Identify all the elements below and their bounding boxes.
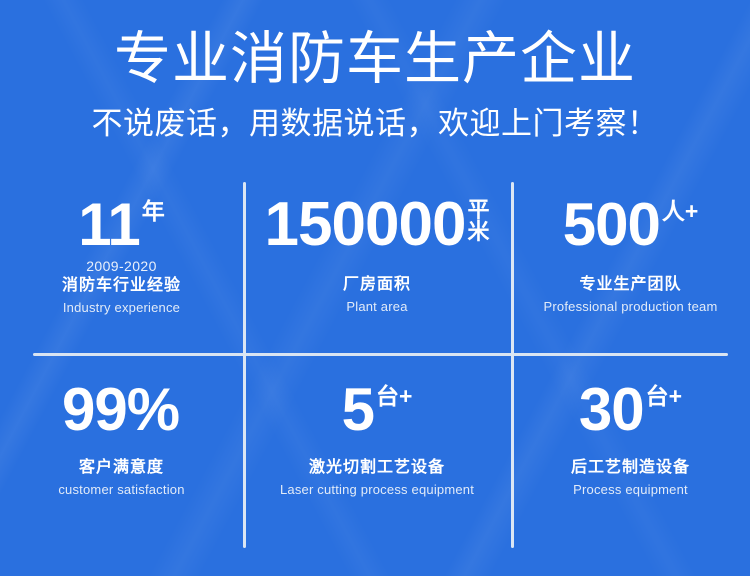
- stats-grid: 11 年 2009-2020 消防车行业经验 Industry experien…: [0, 182, 750, 548]
- stat-unit-bottom: 米: [467, 221, 489, 243]
- stat-unit: 年: [142, 200, 165, 223]
- stat-unit: 台+: [376, 385, 412, 408]
- stat-label-cn: 后工艺制造设备: [571, 460, 690, 476]
- promo-banner: 专业消防车生产企业 不说废话，用数据说话，欢迎上门考察！ 11 年 2009-2…: [0, 0, 750, 576]
- stat-value-line: 150000 平 米: [265, 196, 490, 255]
- stat-number: 5: [342, 381, 374, 438]
- stat-unit: 人+: [662, 200, 698, 223]
- stat-label-cn: 厂房面积: [343, 277, 411, 293]
- stat-unit: 台+: [646, 385, 682, 408]
- page-title: 专业消防车生产企业: [0, 31, 750, 88]
- stat-number: 99%: [62, 381, 179, 438]
- stat-cell-laser-cutting-equipment: 5 台+ 激光切割工艺设备 Laser cutting process equi…: [243, 353, 511, 548]
- stat-cell-production-team: 500 人+ 专业生产团队 Professional production te…: [511, 182, 750, 353]
- stat-value-line: 99%: [62, 381, 181, 438]
- stat-label-cn: 专业生产团队: [579, 277, 681, 293]
- stat-number: 30: [579, 381, 644, 438]
- stat-cell-plant-area: 150000 平 米 厂房面积 Plant area: [243, 182, 511, 353]
- stat-label-en: Process equipment: [573, 483, 688, 496]
- stat-value-line: 500 人+: [563, 196, 699, 253]
- stat-label-en: Professional production team: [544, 300, 718, 313]
- stat-cell-process-equipment: 30 台+ 后工艺制造设备 Process equipment: [511, 353, 750, 548]
- stat-cell-industry-experience: 11 年 2009-2020 消防车行业经验 Industry experien…: [0, 182, 243, 353]
- stat-label-en: customer satisfaction: [58, 483, 184, 496]
- stat-value-line: 11 年: [78, 196, 164, 253]
- stat-label-cn: 客户满意度: [79, 460, 164, 476]
- stat-label-en: Industry experience: [63, 301, 180, 314]
- stat-number: 500: [563, 196, 660, 253]
- stat-number: 150000: [265, 196, 466, 255]
- stat-value-line: 5 台+: [342, 381, 413, 438]
- stat-label-en: Laser cutting process equipment: [280, 483, 474, 496]
- stat-number: 11: [78, 196, 139, 253]
- stat-value-line: 30 台+: [579, 381, 682, 438]
- stat-year-range: 2009-2020: [86, 259, 157, 273]
- stat-unit: 平 米: [467, 199, 489, 244]
- stat-unit-top: 平: [467, 199, 489, 221]
- stat-label-en: Plant area: [346, 300, 407, 313]
- stat-cell-customer-satisfaction: 99% 客户满意度 customer satisfaction: [0, 353, 243, 548]
- stat-label-cn: 消防车行业经验: [62, 278, 181, 294]
- stat-label-cn: 激光切割工艺设备: [309, 460, 445, 476]
- page-subtitle: 不说废话，用数据说话，欢迎上门考察！: [0, 108, 750, 139]
